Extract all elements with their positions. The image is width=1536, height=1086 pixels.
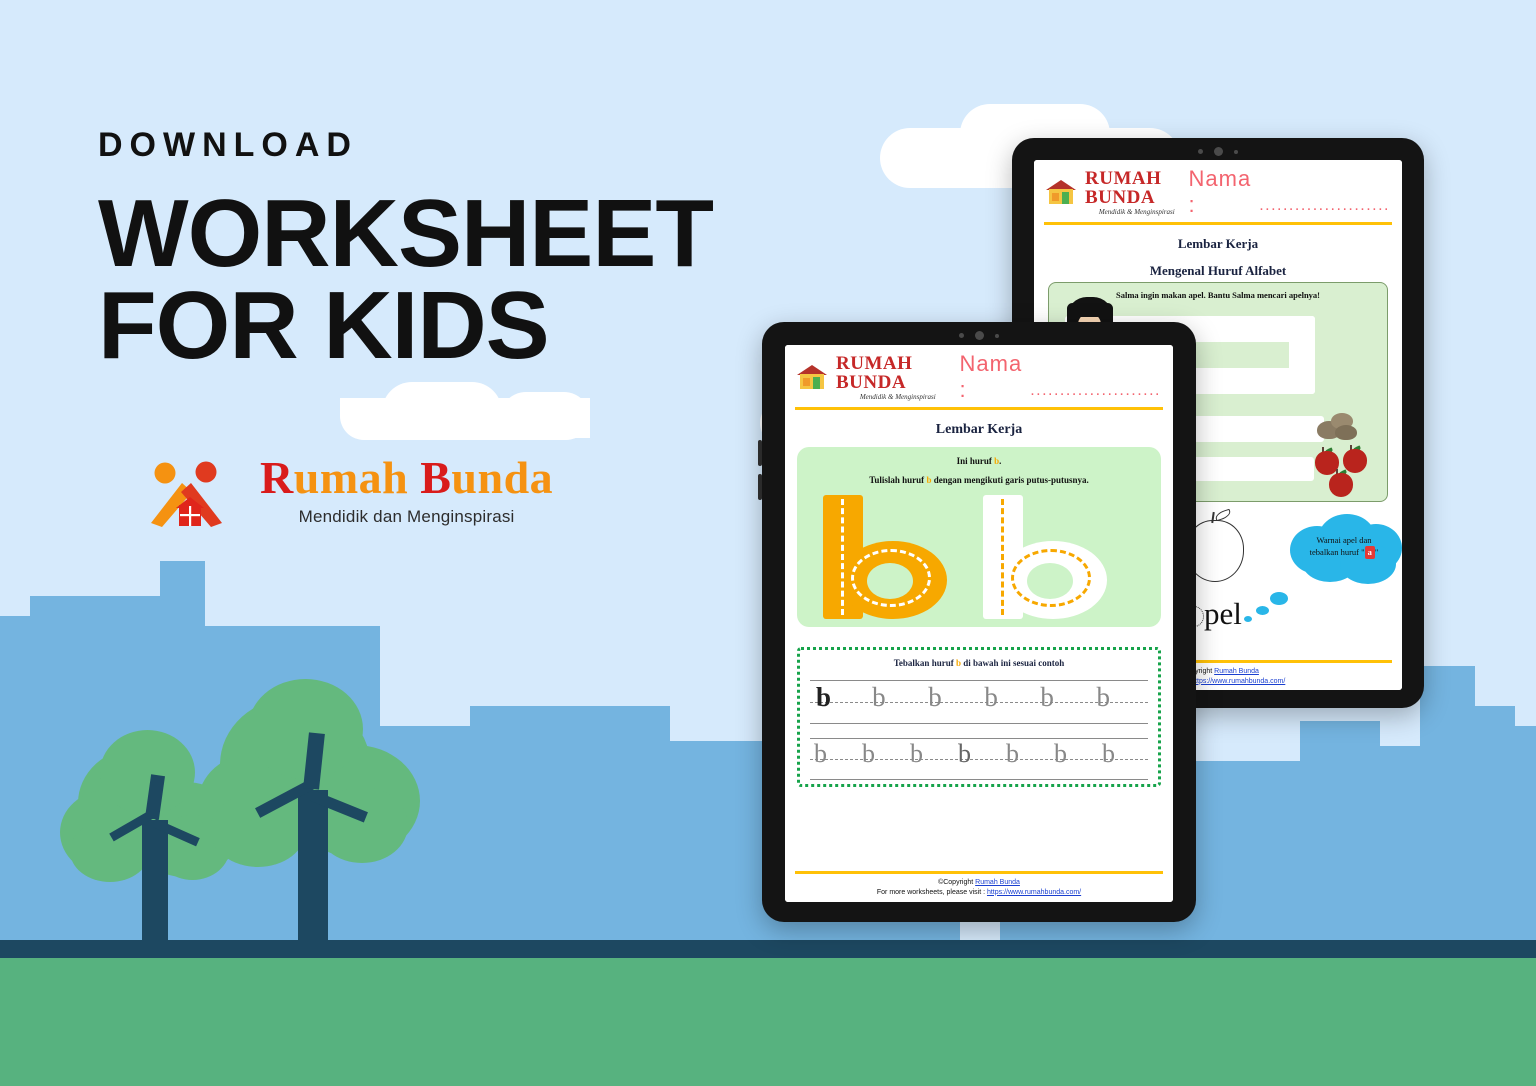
- page-title-line1: WORKSHEET: [98, 188, 798, 280]
- name-field[interactable]: Nama : ......................: [1189, 166, 1390, 218]
- instr1-prefix: Ini huruf: [957, 456, 995, 466]
- worksheet-subtitle: Mengenal Huruf Alfabet: [1034, 263, 1402, 279]
- apple-outline-leaf: [1214, 509, 1232, 522]
- trace-cell[interactable]: b: [1091, 680, 1147, 724]
- name-label: Nama :: [960, 351, 1023, 403]
- trace-cell[interactable]: b: [1034, 680, 1090, 724]
- volume-button[interactable]: [758, 440, 762, 466]
- tablet-camera-row: [1012, 147, 1424, 156]
- camera-dot-icon: [975, 331, 984, 340]
- bubble-text: Warnai apel dan tebalkan huruf "a": [1292, 534, 1396, 559]
- worksheet-title: Lembar Kerja: [785, 422, 1173, 438]
- footer-brand-link[interactable]: Rumah Bunda: [1214, 668, 1259, 675]
- visit-prefix: For more worksheets, please visit :: [877, 889, 987, 896]
- kicker-text: DOWNLOAD: [98, 128, 798, 162]
- trace-cell[interactable]: b: [810, 680, 866, 724]
- worksheet-title: Lembar Kerja: [1034, 236, 1402, 252]
- headline-block: DOWNLOAD WORKSHEET FOR KIDS: [98, 128, 798, 372]
- sensor-dot-icon: [995, 334, 999, 338]
- name-blank-line: ......................: [1259, 197, 1390, 215]
- worksheet-brand-name: RUMAH BUNDA: [836, 354, 960, 392]
- worksheet-brand-tagline: Mendidik & Menginspirasi: [1085, 208, 1189, 216]
- name-label: Nama :: [1189, 166, 1252, 218]
- big-letter-b-outline: [983, 495, 1108, 619]
- camera-dot-icon: [1214, 147, 1223, 156]
- trace-row[interactable]: b b b b b b b: [810, 738, 1148, 780]
- footer-url-link[interactable]: https://www.rumahbunda.com/: [1191, 678, 1285, 685]
- volume-button[interactable]: [758, 474, 762, 500]
- worksheet-brand-name: RUMAH BUNDA: [1085, 169, 1189, 207]
- tablet-front[interactable]: RUMAH BUNDA Mendidik & Menginspirasi Nam…: [762, 322, 1196, 922]
- worksheet-huruf-b: RUMAH BUNDA Mendidik & Menginspirasi Nam…: [785, 345, 1173, 902]
- cloud: [382, 382, 502, 432]
- trace-cell[interactable]: b: [810, 738, 858, 780]
- worksheet-footer: ©Copyright Rumah Bunda For more workshee…: [785, 871, 1173, 902]
- rocks-obstacle-icon: [1317, 411, 1359, 441]
- bubble-line-2: tebalkan huruf "a": [1292, 546, 1396, 558]
- trace-cell[interactable]: b: [1002, 738, 1050, 780]
- big-letter-b-solid: [823, 495, 948, 619]
- worksheet-header: RUMAH BUNDA Mendidik & Menginspirasi Nam…: [1034, 160, 1402, 220]
- trace-cell[interactable]: b: [954, 738, 1002, 780]
- sensor-dot-icon: [959, 333, 964, 338]
- worksheet-brand-tagline: Mendidik & Menginspirasi: [836, 393, 960, 401]
- trace-suffix: di bawah ini sesuai contoh: [961, 658, 1064, 668]
- sensor-dot-icon: [1234, 150, 1238, 154]
- grass-area: [0, 958, 1536, 1086]
- thought-bubble-tail: [1256, 606, 1269, 615]
- cloud: [500, 392, 590, 438]
- brand-logo: Rumah Bunda Mendidik dan Menginspirasi: [146, 455, 553, 527]
- instr1-suffix: .: [999, 456, 1001, 466]
- ground-strip: [0, 940, 1536, 958]
- worksheet-header: RUMAH BUNDA Mendidik & Menginspirasi Nam…: [785, 345, 1173, 405]
- footer-url-link[interactable]: https://www.rumahbunda.com/: [987, 889, 1081, 896]
- instruction-line-2: Tulislah huruf b dengan mengikuti garis …: [797, 466, 1161, 485]
- name-blank-line: ......................: [1030, 382, 1161, 400]
- trace-cell[interactable]: b: [922, 680, 978, 724]
- trace-cell[interactable]: b: [906, 738, 954, 780]
- copyright-prefix: ©Copyright: [938, 879, 975, 886]
- bubble-line-1: Warnai apel dan: [1292, 534, 1396, 546]
- apple-icon: [1343, 449, 1367, 473]
- page-title-line2: FOR KIDS: [98, 280, 798, 372]
- apple-icon: [1329, 473, 1353, 497]
- name-field[interactable]: Nama : ......................: [960, 351, 1161, 403]
- trace-prefix: Tebalkan huruf: [894, 658, 956, 668]
- trace-cell[interactable]: b: [978, 680, 1034, 724]
- header-divider: [1044, 222, 1392, 225]
- trace-cell[interactable]: b: [866, 680, 922, 724]
- trace-cell[interactable]: b: [1098, 738, 1146, 780]
- brand-tagline: Mendidik dan Menginspirasi: [260, 507, 553, 527]
- trace-instruction: Tebalkan huruf b di bawah ini sesuai con…: [800, 650, 1158, 668]
- instruction-line-1: Ini huruf b.: [797, 447, 1161, 466]
- letter-demo-panel: Ini huruf b. Tulislah huruf b dengan men…: [797, 447, 1161, 627]
- footer-visit: For more worksheets, please visit : http…: [785, 888, 1173, 897]
- bubble-letter-chip: a: [1365, 546, 1375, 558]
- thought-bubble-tail: [1244, 616, 1252, 622]
- brand-name: Rumah Bunda: [260, 455, 553, 501]
- building: [1500, 726, 1536, 956]
- thought-bubble: Warnai apel dan tebalkan huruf "a": [1282, 512, 1402, 590]
- sensor-dot-icon: [1198, 149, 1203, 154]
- instr2-prefix: Tulislah huruf: [869, 475, 926, 485]
- instr2-suffix: dengan mengikuti garis putus-putusnya.: [931, 475, 1088, 485]
- house-logo-icon: [795, 364, 829, 390]
- house-logo-icon: [1044, 179, 1078, 205]
- trace-cell[interactable]: b: [858, 738, 906, 780]
- footer-divider: [795, 871, 1163, 874]
- footer-brand-link[interactable]: Rumah Bunda: [975, 879, 1020, 886]
- rumah-bunda-logo-icon: [146, 461, 242, 527]
- building: [1180, 761, 1310, 956]
- trace-row[interactable]: b b b b b b: [810, 680, 1148, 724]
- tablet-camera-row: [762, 331, 1196, 340]
- tree: [198, 675, 428, 940]
- building: [1300, 721, 1380, 956]
- tablet-front-screen[interactable]: RUMAH BUNDA Mendidik & Menginspirasi Nam…: [785, 345, 1173, 902]
- trace-cell[interactable]: b: [1050, 738, 1098, 780]
- tracing-exercise-zone[interactable]: Tebalkan huruf b di bawah ini sesuai con…: [797, 647, 1161, 787]
- footer-copyright: ©Copyright Rumah Bunda: [785, 878, 1173, 887]
- header-divider: [795, 407, 1163, 410]
- poster-canvas: DOWNLOAD WORKSHEET FOR KIDS Rumah B: [0, 0, 1536, 1086]
- thought-bubble-tail: [1270, 592, 1288, 605]
- word-apel-rest: pel: [1204, 596, 1242, 631]
